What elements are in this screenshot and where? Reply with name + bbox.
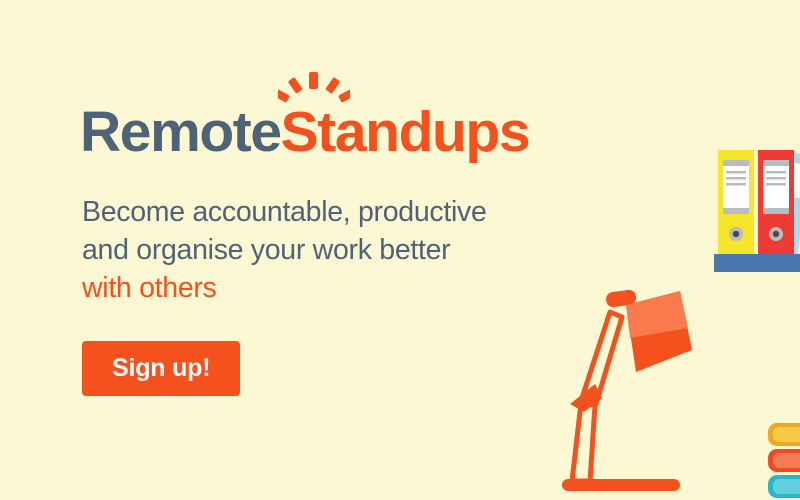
cyan-book <box>768 475 800 498</box>
blue-binder <box>770 152 800 257</box>
hero-tagline: Become accountable, productive and organ… <box>82 194 552 308</box>
brand-logo: RemoteStandups <box>80 104 602 161</box>
yellow-binder <box>718 150 754 254</box>
landing-hero: RemoteStandups Become accountable, produ… <box>0 0 800 500</box>
lamp-base <box>562 479 680 491</box>
sign-up-button[interactable]: Sign up! <box>82 341 240 396</box>
tagline-line-two: and organise your work better <box>82 234 450 266</box>
logo-word-remote: Remote <box>80 100 281 164</box>
hero-content: RemoteStandups Become accountable, produ… <box>82 104 602 396</box>
red-binder <box>758 150 794 254</box>
shelf <box>714 254 800 272</box>
red-book <box>768 449 800 472</box>
lamp-neck <box>605 289 637 308</box>
lamp-lower-arm <box>572 403 595 481</box>
tagline-line-one: Become accountable, productive <box>82 196 487 228</box>
lamp-shade <box>626 291 692 372</box>
logo-word-standups: Standups <box>281 100 529 164</box>
yellow-book <box>768 423 800 446</box>
tagline-accent: with others <box>82 272 217 304</box>
binder-shelf-icon <box>700 138 800 286</box>
stacked-books-icon <box>762 420 800 500</box>
lamp-shade-highlight <box>626 291 688 338</box>
